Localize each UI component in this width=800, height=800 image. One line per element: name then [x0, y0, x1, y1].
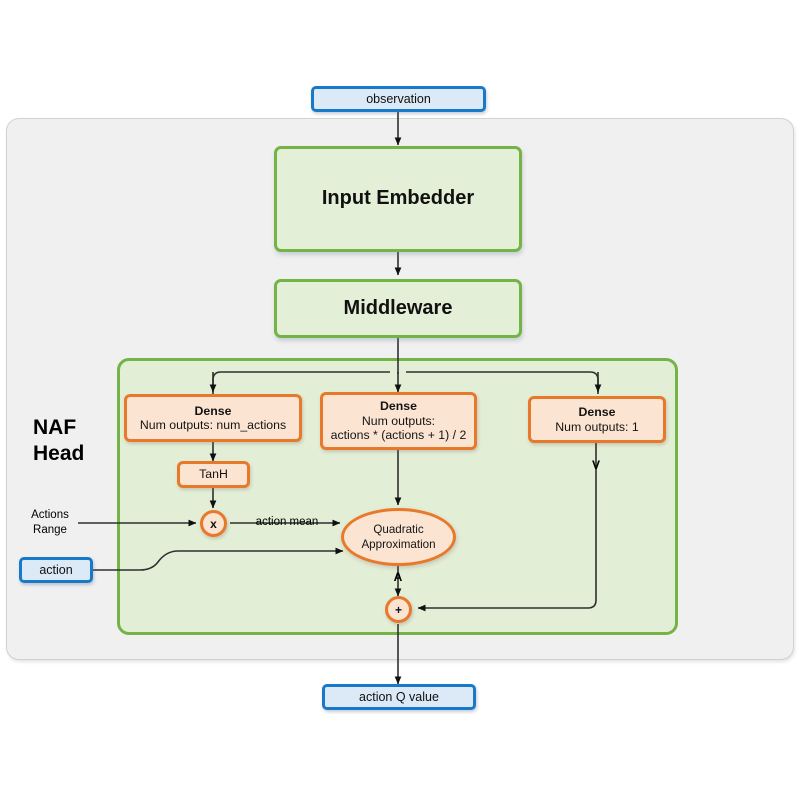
- input-embedder-label: Input Embedder: [322, 187, 474, 211]
- action-q-value-output-box[interactable]: action Q value: [322, 684, 476, 710]
- dense-center-title: Dense: [380, 399, 417, 414]
- diagram-canvas: observation Input Embedder Middleware NA…: [0, 0, 800, 800]
- naf-head-title-line1: NAF: [33, 415, 84, 441]
- multiply-operator-node[interactable]: x: [200, 510, 227, 537]
- dense-right-title: Dense: [579, 405, 616, 420]
- naf-head-title: NAF Head: [33, 415, 84, 466]
- actions-range-label: Actions Range: [22, 508, 78, 537]
- dense-center-detail-1: Num outputs:: [362, 414, 435, 429]
- advantage-edge-label: A: [388, 570, 408, 584]
- observation-input-box[interactable]: observation: [311, 86, 486, 112]
- quadratic-approximation-node[interactable]: Quadratic Approximation: [341, 508, 456, 566]
- middleware-box[interactable]: Middleware: [274, 279, 522, 338]
- naf-head-title-line2: Head: [33, 441, 84, 467]
- multiply-symbol: x: [210, 517, 217, 531]
- dense-right-box[interactable]: Dense Num outputs: 1: [528, 396, 666, 443]
- add-symbol: +: [395, 603, 402, 617]
- dense-left-title: Dense: [195, 404, 232, 419]
- dense-right-detail: Num outputs: 1: [555, 420, 638, 435]
- dense-center-detail-2: actions * (actions + 1) / 2: [331, 428, 467, 443]
- action-mean-edge-label: action mean: [244, 516, 330, 528]
- observation-label: observation: [366, 92, 431, 107]
- input-embedder-box[interactable]: Input Embedder: [274, 146, 522, 252]
- action-label: action: [39, 563, 72, 578]
- tanh-activation-box[interactable]: TanH: [177, 461, 250, 488]
- action-input-box[interactable]: action: [19, 557, 93, 583]
- actions-range-line2: Range: [22, 523, 78, 538]
- add-operator-node[interactable]: +: [385, 596, 412, 623]
- quadratic-line1: Quadratic: [373, 522, 423, 537]
- tanh-label: TanH: [199, 467, 228, 482]
- dense-left-box[interactable]: Dense Num outputs: num_actions: [124, 394, 302, 442]
- action-q-value-label: action Q value: [359, 690, 439, 705]
- quadratic-line2: Approximation: [361, 537, 435, 552]
- middleware-label: Middleware: [344, 297, 453, 321]
- dense-center-box[interactable]: Dense Num outputs: actions * (actions + …: [320, 392, 477, 450]
- value-edge-label: V: [586, 458, 606, 472]
- dense-left-detail: Num outputs: num_actions: [140, 418, 286, 433]
- actions-range-line1: Actions: [22, 508, 78, 523]
